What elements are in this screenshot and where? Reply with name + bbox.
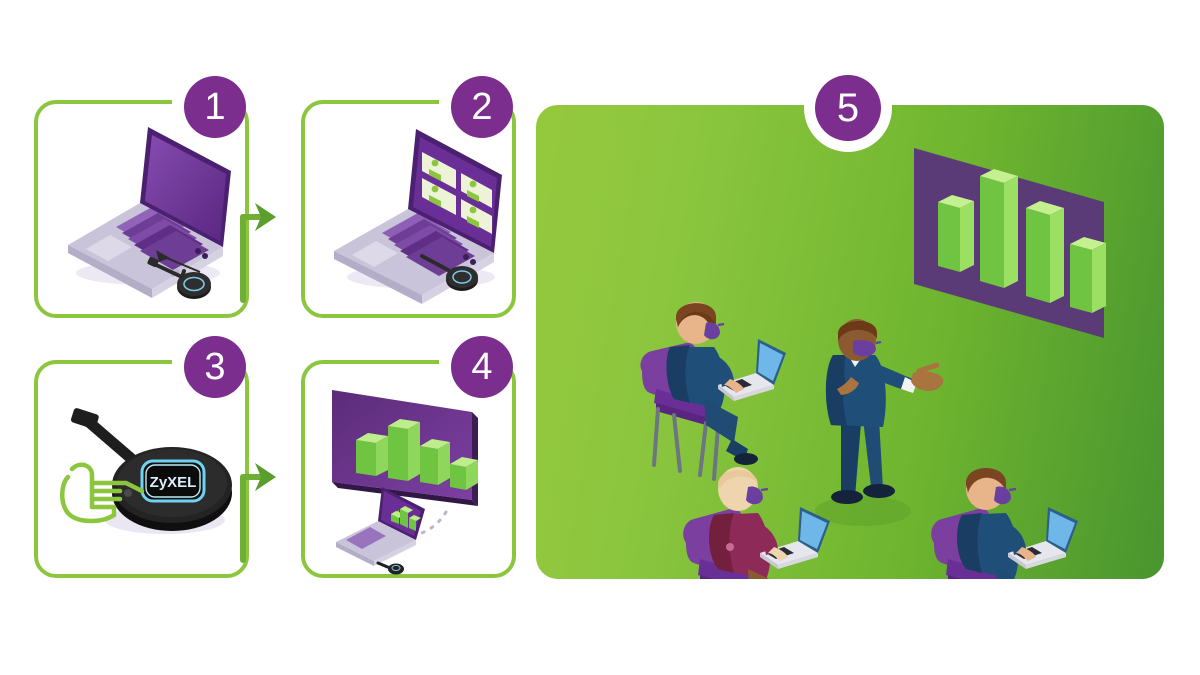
step-4-badge: 4 <box>451 336 513 398</box>
connector-step3-to-step4 <box>243 463 276 560</box>
step-1-badge: 1 <box>184 76 246 138</box>
step-3-badge: 3 <box>184 336 246 398</box>
step-2-badge: 2 <box>451 76 513 138</box>
diagram-canvas: 1 <box>0 0 1200 675</box>
connector-layer <box>0 0 1200 675</box>
connector-step1-to-step2 <box>243 203 276 300</box>
step-5-badge: 5 <box>815 75 881 141</box>
